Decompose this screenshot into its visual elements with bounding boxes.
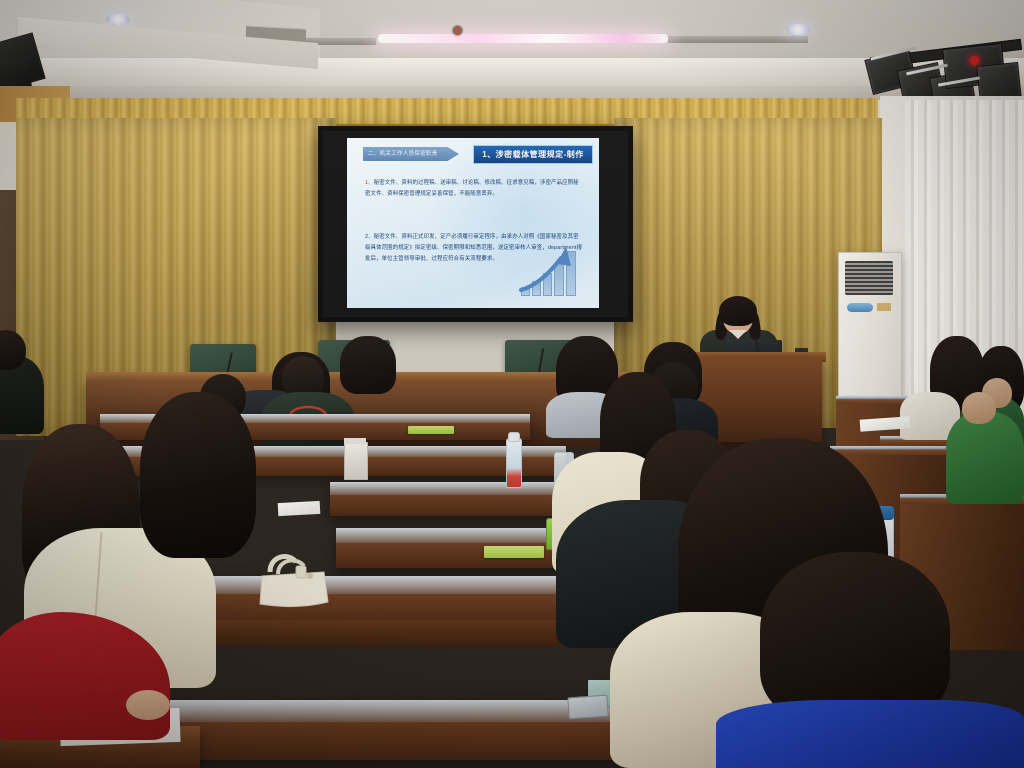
air-vent-icon [668, 35, 808, 43]
presentation-slide: 二、机关工作人员保密职责 1、涉密载体管理规定-制作 1、秘密文件、资料的过程稿… [347, 138, 599, 308]
audience-person-hair [760, 552, 950, 722]
audience-person-hand [126, 690, 170, 720]
projection-screen: 二、机关工作人员保密职责 1、涉密载体管理规定-制作 1、秘密文件、资料的过程稿… [318, 126, 633, 322]
water-bottle-cap [508, 432, 520, 442]
water-bottle[interactable] [506, 438, 522, 488]
green-notebook[interactable] [408, 426, 454, 434]
smartphone[interactable] [567, 695, 608, 720]
desk-surface [160, 576, 620, 594]
conference-room-photo: 二、机关工作人员保密职责 1、涉密载体管理规定-制作 1、秘密文件、资料的过程稿… [0, 0, 1024, 768]
audience-person-green-sweater [946, 412, 1024, 504]
fluorescent-tube-light [378, 34, 668, 43]
tissue-box-top [344, 438, 366, 444]
sprinkler-head-icon [453, 26, 462, 35]
slide-title: 1、涉密载体管理规定-制作 [473, 145, 593, 164]
slide-growth-chart-icon [517, 236, 593, 302]
audience-person-hair [340, 336, 396, 394]
slide-paragraph-1: 1、秘密文件、资料的过程稿、送审稿、讨论稿、修改稿、征求意见稿，涉密产品应照秘密… [365, 178, 583, 200]
downlight-icon [786, 24, 810, 35]
ac-badge [877, 303, 891, 311]
tissue-box[interactable] [344, 442, 368, 480]
ceiling [0, 0, 1024, 108]
growth-arrow-icon [519, 240, 585, 294]
downlight-icon [106, 14, 130, 25]
desk-surface [330, 482, 590, 495]
slide-section-tab: 二、机关工作人员保密职责 [363, 147, 459, 161]
green-notebook[interactable] [484, 546, 544, 558]
ac-vent-grille [845, 261, 893, 295]
desk-surface [830, 446, 950, 455]
paper-sheets[interactable] [278, 501, 321, 516]
ac-control-panel[interactable] [847, 303, 873, 312]
desk-front-panel [160, 620, 620, 646]
audience-person-blue-jacket [716, 700, 1024, 768]
audience-person-head [962, 392, 996, 424]
presenter-hair [719, 296, 757, 326]
slide-paragraph-1-text: 秘密文件、资料的过程稿、送审稿、讨论稿、修改稿、征求意见稿，涉密产品应照秘密文件… [365, 180, 579, 197]
handbag[interactable] [252, 550, 332, 610]
slide-paragraph-1-prefix: 1、 [365, 180, 374, 186]
slide-paragraph-2-prefix: 2、 [365, 234, 374, 240]
audience-person-hair [140, 392, 256, 558]
